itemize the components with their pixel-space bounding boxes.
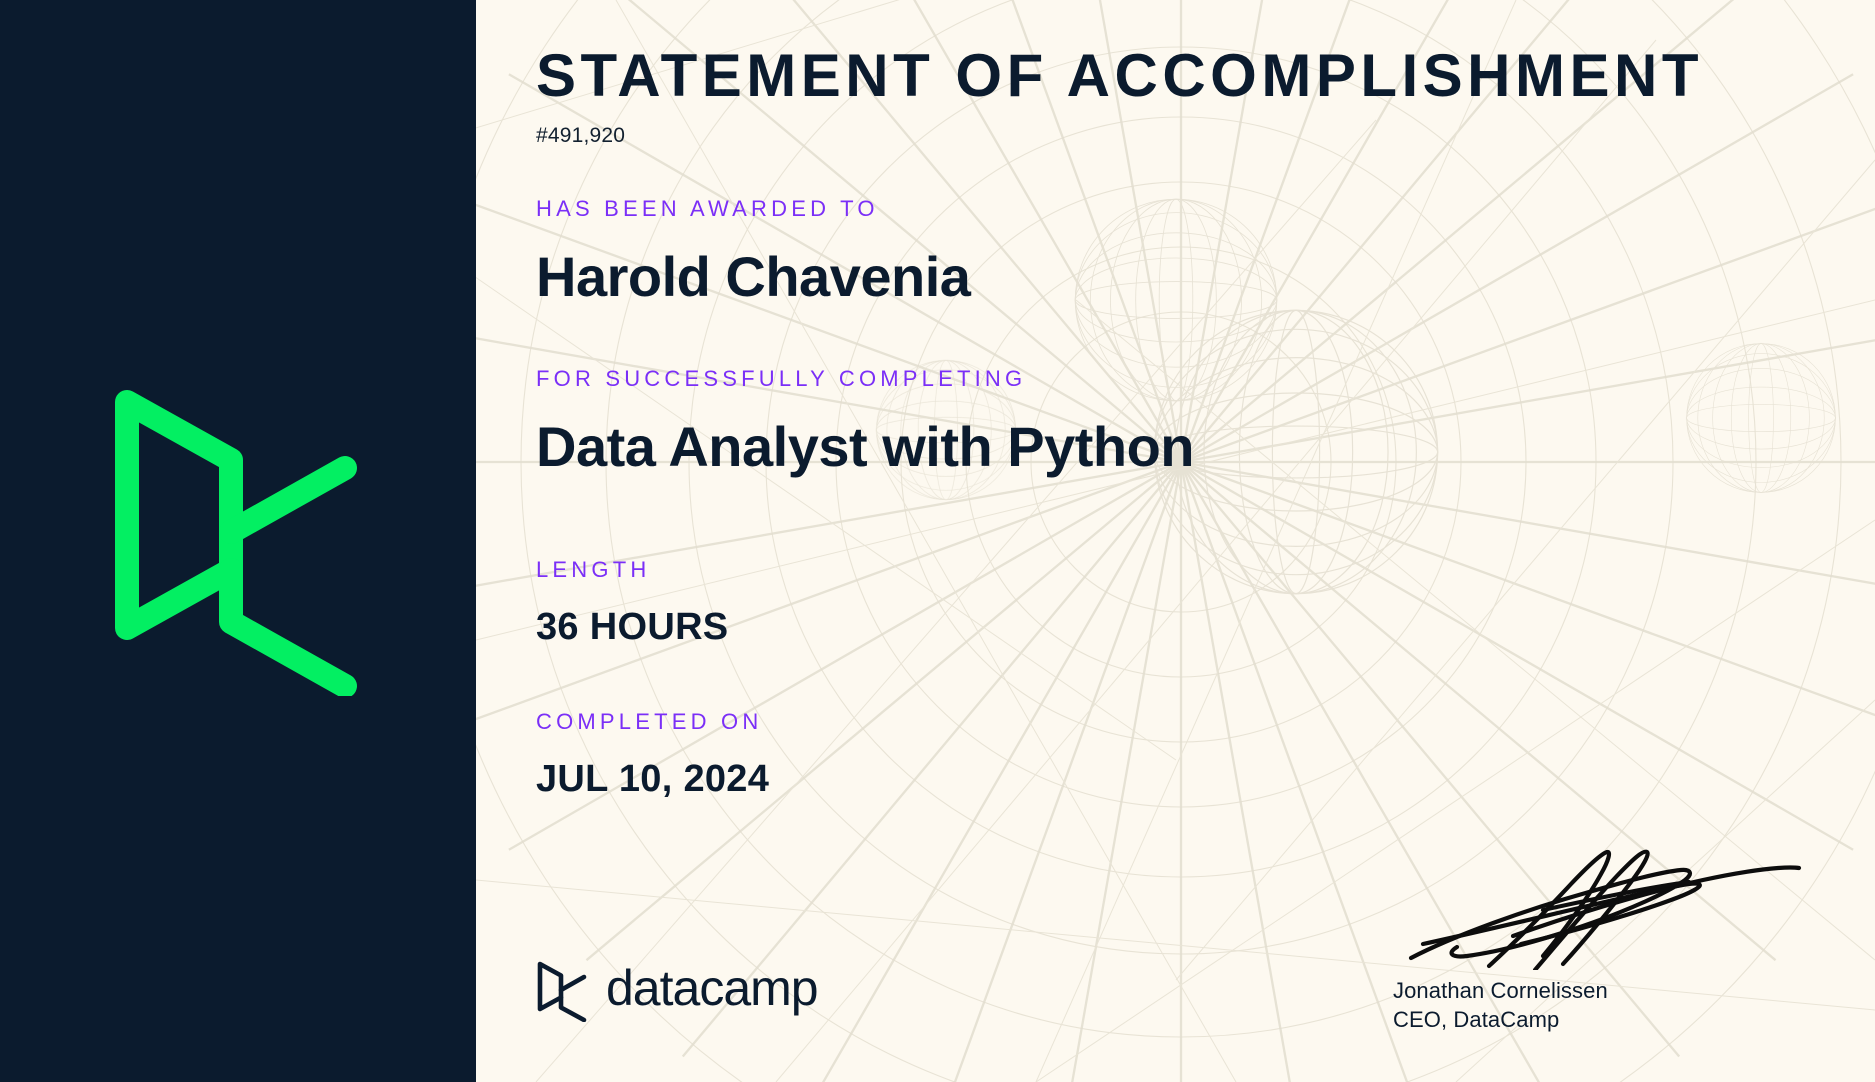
length-block: LENGTH 36 HOURS: [536, 557, 1819, 649]
certificate-body: STATEMENT OF ACCOMPLISHMENT #491,920 HAS…: [476, 0, 1875, 1082]
certificate: STATEMENT OF ACCOMPLISHMENT #491,920 HAS…: [0, 0, 1875, 1082]
signatory-name: Jonathan Cornelissen: [1393, 976, 1813, 1005]
completed-on-label: COMPLETED ON: [536, 709, 1819, 735]
datacamp-wordmark-text: datacamp: [606, 965, 866, 1017]
length-value: 36 HOURS: [536, 607, 1819, 649]
recipient-name: Harold Chavenia: [536, 246, 1819, 308]
svg-text:datacamp: datacamp: [606, 965, 818, 1016]
course-title: Data Analyst with Python: [536, 416, 1819, 478]
completed-on-value: JUL 10, 2024: [536, 759, 1819, 801]
completing-label: FOR SUCCESSFULLY COMPLETING: [536, 366, 1819, 392]
certificate-number: #491,920: [536, 124, 1819, 148]
page-title: STATEMENT OF ACCOMPLISHMENT: [536, 44, 1819, 107]
awarded-to-label: HAS BEEN AWARDED TO: [536, 196, 1819, 222]
signatory-role: CEO, DataCamp: [1393, 1005, 1813, 1034]
length-label: LENGTH: [536, 557, 1819, 583]
brand-panel: [0, 0, 476, 1082]
completed-block: COMPLETED ON JUL 10, 2024: [536, 709, 1819, 801]
course-block: FOR SUCCESSFULLY COMPLETING Data Analyst…: [536, 366, 1819, 478]
handwritten-signature-icon: [1393, 840, 1813, 970]
datacamp-wordmark: datacamp: [536, 960, 866, 1022]
recipient-block: HAS BEEN AWARDED TO Harold Chavenia: [536, 196, 1819, 308]
datacamp-logo-mark-icon: [113, 386, 363, 696]
datacamp-logo-mark-icon: [536, 960, 588, 1022]
signature-block: Jonathan Cornelissen CEO, DataCamp: [1393, 840, 1813, 1034]
